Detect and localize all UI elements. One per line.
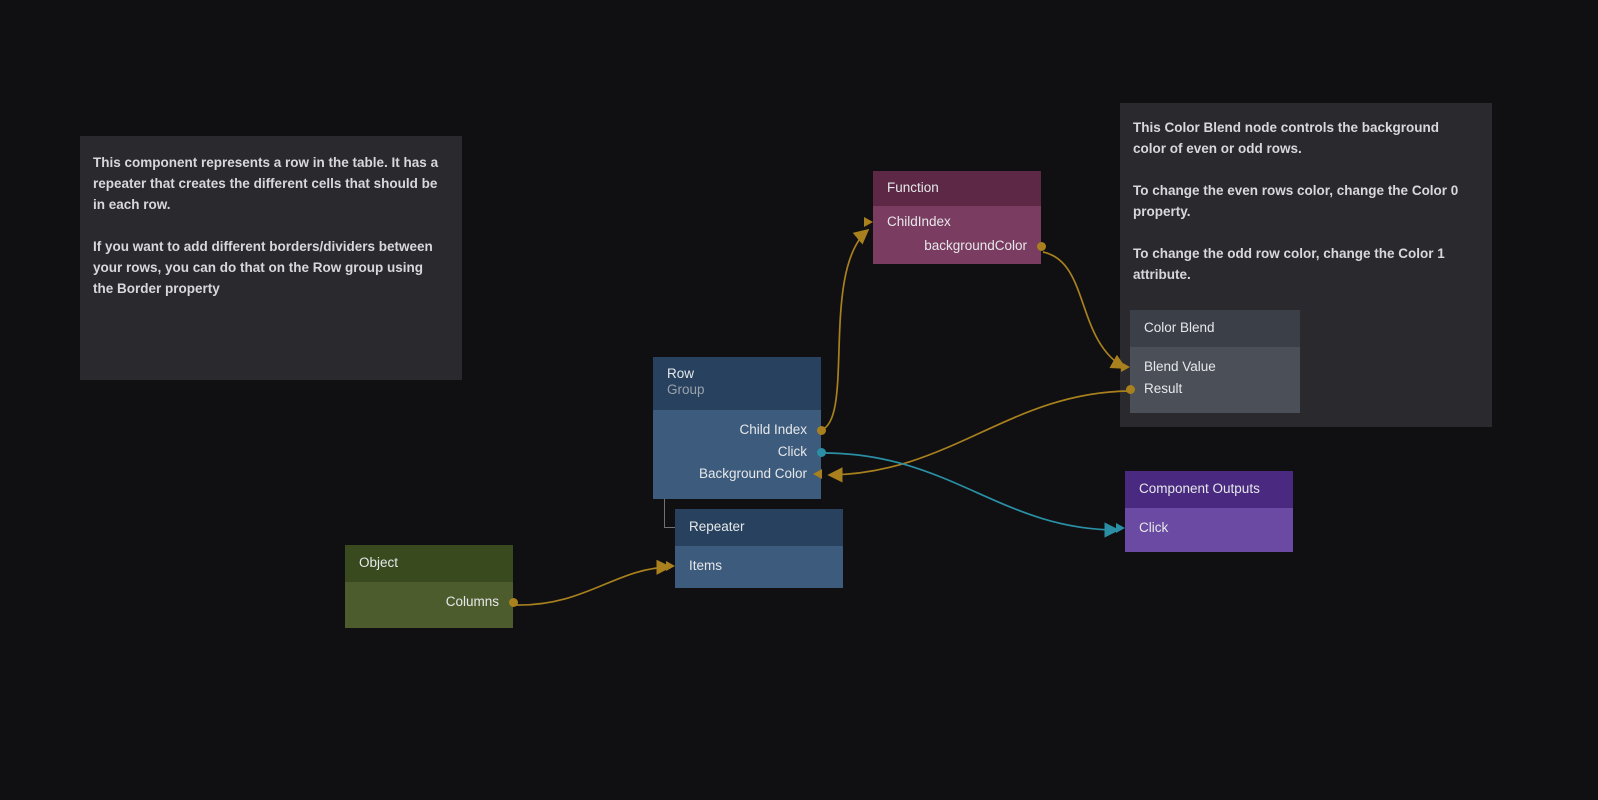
node-row-body: Child Index Click Background Color xyxy=(653,410,821,499)
wire-childindex xyxy=(821,230,868,430)
port-object-columns[interactable]: Columns xyxy=(345,591,513,613)
node-object-body: Columns xyxy=(345,582,513,628)
node-color-blend[interactable]: Color Blend Blend Value Result xyxy=(1130,310,1300,413)
port-marker-dot-icon xyxy=(1126,385,1135,394)
node-color-blend-header: Color Blend xyxy=(1130,310,1300,347)
port-marker-arrow-icon xyxy=(666,561,675,571)
port-repeater-items[interactable]: Items xyxy=(675,555,843,577)
node-object[interactable]: Object Columns xyxy=(345,545,513,628)
node-repeater-title: Repeater xyxy=(689,519,829,535)
wire-backgroundcolor xyxy=(1043,252,1125,368)
node-row-subtitle: Group xyxy=(667,382,807,398)
port-marker-arrow-icon xyxy=(1116,523,1125,533)
port-marker-arrow-icon xyxy=(1121,362,1130,372)
port-repeater-items-label: Items xyxy=(689,558,722,573)
wire-result-to-background xyxy=(829,391,1130,475)
port-function-backgroundcolor-label: backgroundColor xyxy=(924,238,1027,253)
comment-right-text: This Color Blend node controls the backg… xyxy=(1133,117,1474,285)
port-row-background-color[interactable]: Background Color xyxy=(653,463,821,485)
port-row-child-index-label: Child Index xyxy=(739,422,807,437)
port-marker-dot-icon xyxy=(509,598,518,607)
comment-left-text: This component represents a row in the t… xyxy=(93,152,444,299)
port-marker-arrow-icon xyxy=(864,217,873,227)
port-row-click[interactable]: Click xyxy=(653,441,821,463)
node-component-outputs-title: Component Outputs xyxy=(1139,481,1279,497)
node-color-blend-body: Blend Value Result xyxy=(1130,347,1300,413)
port-function-backgroundcolor[interactable]: backgroundColor xyxy=(873,234,1041,258)
node-row-title: Row xyxy=(667,366,807,382)
node-repeater-header: Repeater xyxy=(675,509,843,546)
node-object-title: Object xyxy=(359,555,499,571)
port-row-child-index[interactable]: Child Index xyxy=(653,419,821,441)
node-function-header: Function xyxy=(873,171,1041,206)
comment-panel-row-component[interactable]: This component represents a row in the t… xyxy=(80,136,462,380)
node-repeater[interactable]: Repeater Items xyxy=(675,509,843,588)
node-color-blend-title: Color Blend xyxy=(1144,320,1286,336)
node-repeater-body: Items xyxy=(675,546,843,588)
port-marker-arrow-icon xyxy=(813,469,822,479)
node-function[interactable]: Function ChildIndex backgroundColor xyxy=(873,171,1041,264)
node-function-body: ChildIndex backgroundColor xyxy=(873,206,1041,264)
port-function-childindex-label: ChildIndex xyxy=(887,214,951,229)
node-object-header: Object xyxy=(345,545,513,582)
port-row-click-label: Click xyxy=(778,444,807,459)
node-component-outputs-header: Component Outputs xyxy=(1125,471,1293,508)
port-color-blend-result-label: Result xyxy=(1144,381,1182,396)
node-function-title: Function xyxy=(887,180,1027,196)
node-row-group[interactable]: Row Group Child Index Click Background C… xyxy=(653,357,821,499)
port-marker-dot-icon xyxy=(817,426,826,435)
port-color-blend-value[interactable]: Blend Value xyxy=(1130,356,1300,378)
port-component-outputs-click[interactable]: Click xyxy=(1125,517,1293,539)
port-marker-dot-icon xyxy=(817,448,826,457)
node-component-outputs-body: Click xyxy=(1125,508,1293,552)
wire-columns-to-items xyxy=(514,567,670,605)
port-color-blend-result[interactable]: Result xyxy=(1130,378,1300,400)
port-marker-dot-icon xyxy=(1037,242,1046,251)
port-function-childindex[interactable]: ChildIndex xyxy=(873,210,1041,234)
port-row-background-color-label: Background Color xyxy=(699,466,807,481)
port-color-blend-value-label: Blend Value xyxy=(1144,359,1216,374)
port-object-columns-label: Columns xyxy=(446,594,499,609)
port-component-outputs-click-label: Click xyxy=(1139,520,1168,535)
node-row-header: Row Group xyxy=(653,357,821,410)
node-component-outputs[interactable]: Component Outputs Click xyxy=(1125,471,1293,552)
wire-click xyxy=(821,453,1118,530)
node-graph-canvas[interactable]: This component represents a row in the t… xyxy=(0,0,1598,800)
